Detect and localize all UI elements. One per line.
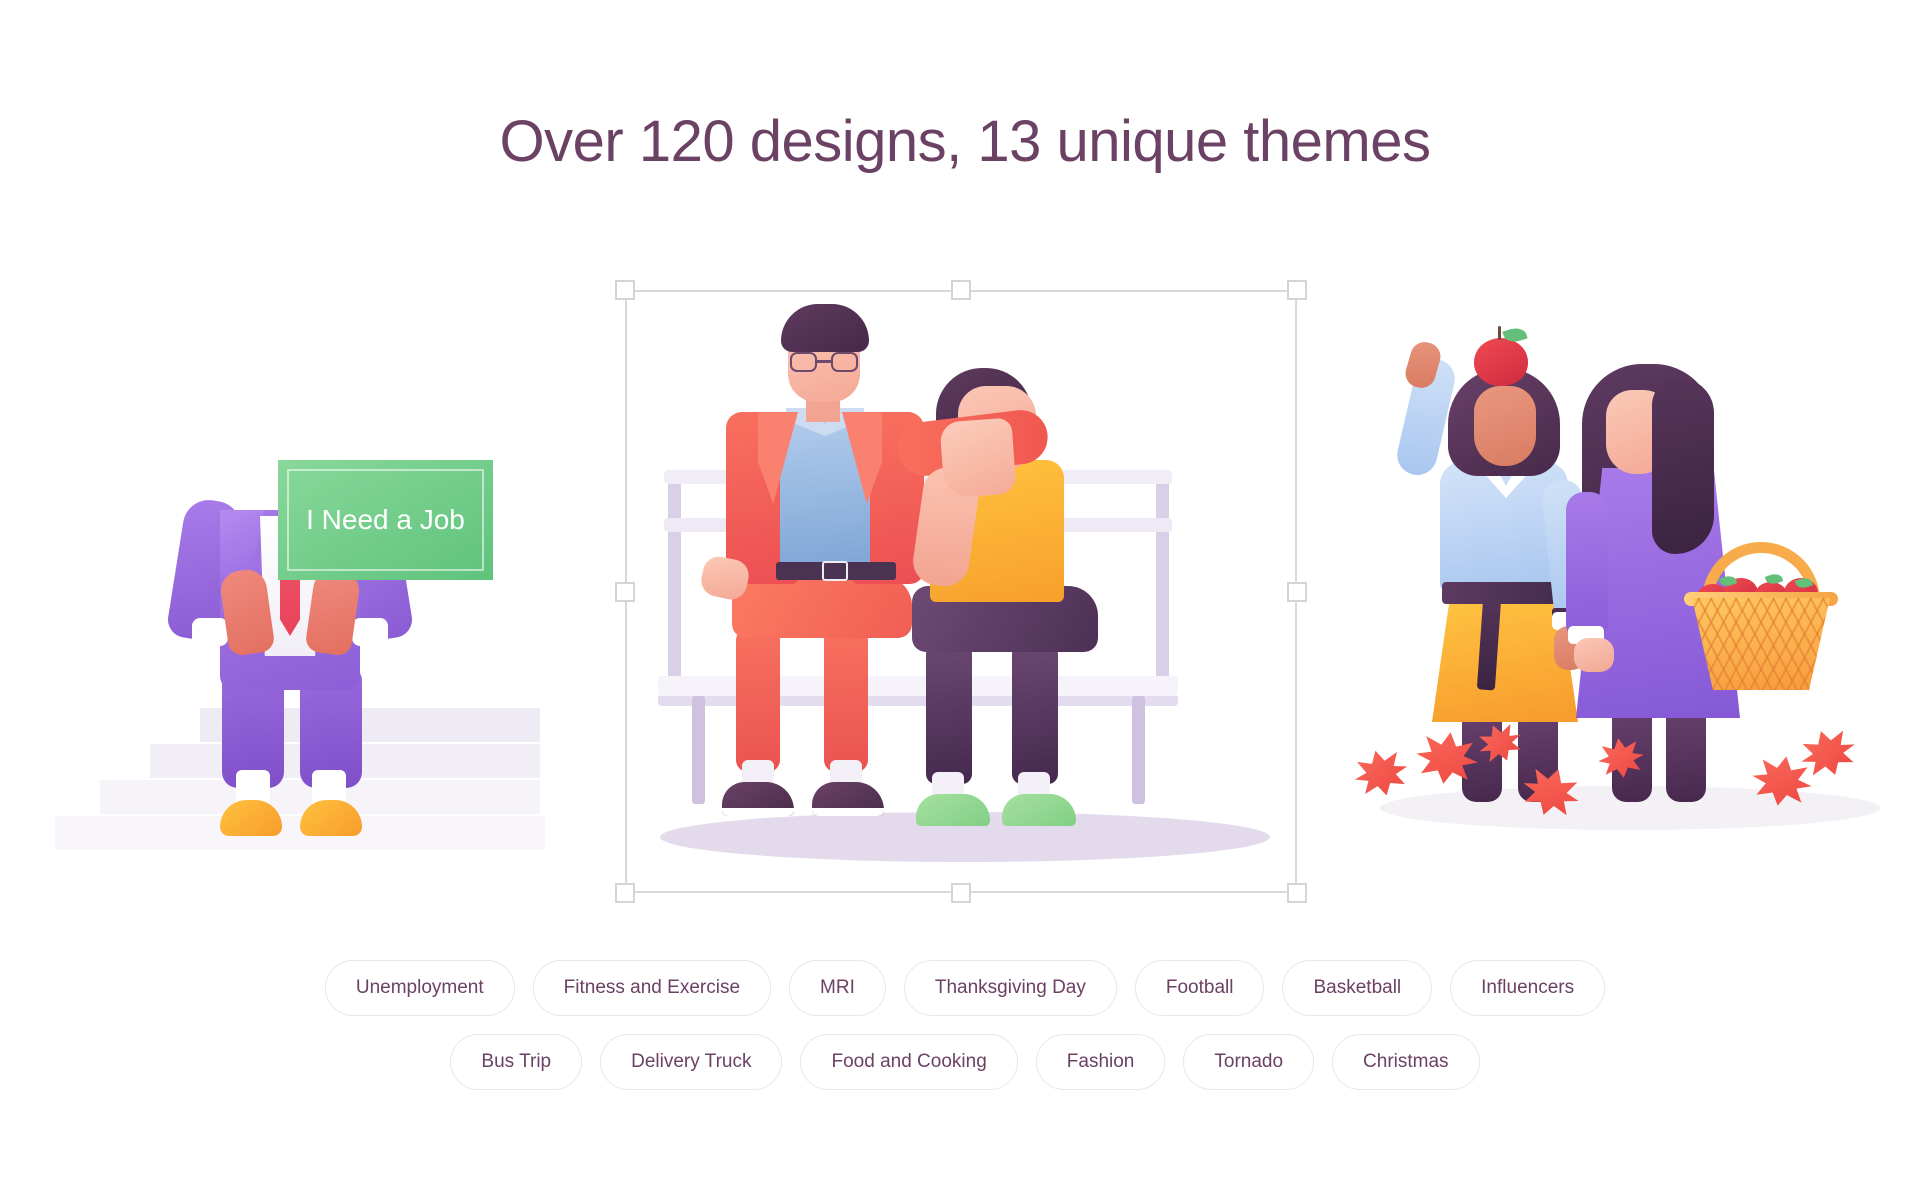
- theme-tag-list: UnemploymentFitness and ExerciseMRIThank…: [0, 960, 1930, 1108]
- unemployed-man-figure: I Need a Job: [160, 470, 420, 800]
- page-title: Over 120 designs, 13 unique themes: [0, 108, 1930, 175]
- theme-tag-pill[interactable]: Bus Trip: [450, 1034, 582, 1090]
- i-need-a-job-sign: I Need a Job: [278, 460, 493, 580]
- theme-tag-pill[interactable]: Christmas: [1332, 1034, 1480, 1090]
- resize-handle-middle-left[interactable]: [615, 582, 635, 602]
- illustration-support-on-bench[interactable]: [640, 300, 1290, 880]
- theme-tag-pill[interactable]: Unemployment: [325, 960, 515, 1016]
- theme-tag-pill[interactable]: MRI: [789, 960, 886, 1016]
- resize-handle-bottom-left[interactable]: [615, 883, 635, 903]
- theme-tag-pill[interactable]: Fitness and Exercise: [533, 960, 771, 1016]
- theme-tag-pill[interactable]: Basketball: [1282, 960, 1432, 1016]
- theme-tag-pill[interactable]: Influencers: [1450, 960, 1605, 1016]
- hair-shape: [781, 304, 869, 352]
- theme-tag-row-1: UnemploymentFitness and ExerciseMRIThank…: [0, 960, 1930, 1016]
- resize-handle-bottom-center[interactable]: [951, 883, 971, 903]
- theme-tag-row-2: Bus TripDelivery TruckFood and CookingFa…: [0, 1034, 1930, 1090]
- resize-handle-top-left[interactable]: [615, 280, 635, 300]
- theme-tag-pill[interactable]: Food and Cooking: [800, 1034, 1017, 1090]
- theme-tag-pill[interactable]: Delivery Truck: [600, 1034, 782, 1090]
- theme-tag-pill[interactable]: Football: [1135, 960, 1265, 1016]
- apple-on-head-icon: [1474, 338, 1528, 386]
- canvas-root: Over 120 designs, 13 unique themes I Nee…: [0, 0, 1930, 1200]
- illustration-thanksgiving-apple-picking[interactable]: [1370, 350, 1890, 850]
- sign-text: I Need a Job: [278, 460, 493, 580]
- theme-tag-pill[interactable]: Fashion: [1036, 1034, 1166, 1090]
- illustration-unemployment[interactable]: I Need a Job: [40, 380, 540, 880]
- theme-tag-pill[interactable]: Tornado: [1183, 1034, 1314, 1090]
- hands-covering-face: [939, 418, 1016, 499]
- theme-tag-pill[interactable]: Thanksgiving Day: [904, 960, 1117, 1016]
- resize-handle-top-center[interactable]: [951, 280, 971, 300]
- resize-handle-top-right[interactable]: [1287, 280, 1307, 300]
- apple-basket-icon: [1686, 558, 1836, 688]
- resize-handle-middle-right[interactable]: [1287, 582, 1307, 602]
- resize-handle-bottom-right[interactable]: [1287, 883, 1307, 903]
- glasses-icon: [790, 352, 860, 372]
